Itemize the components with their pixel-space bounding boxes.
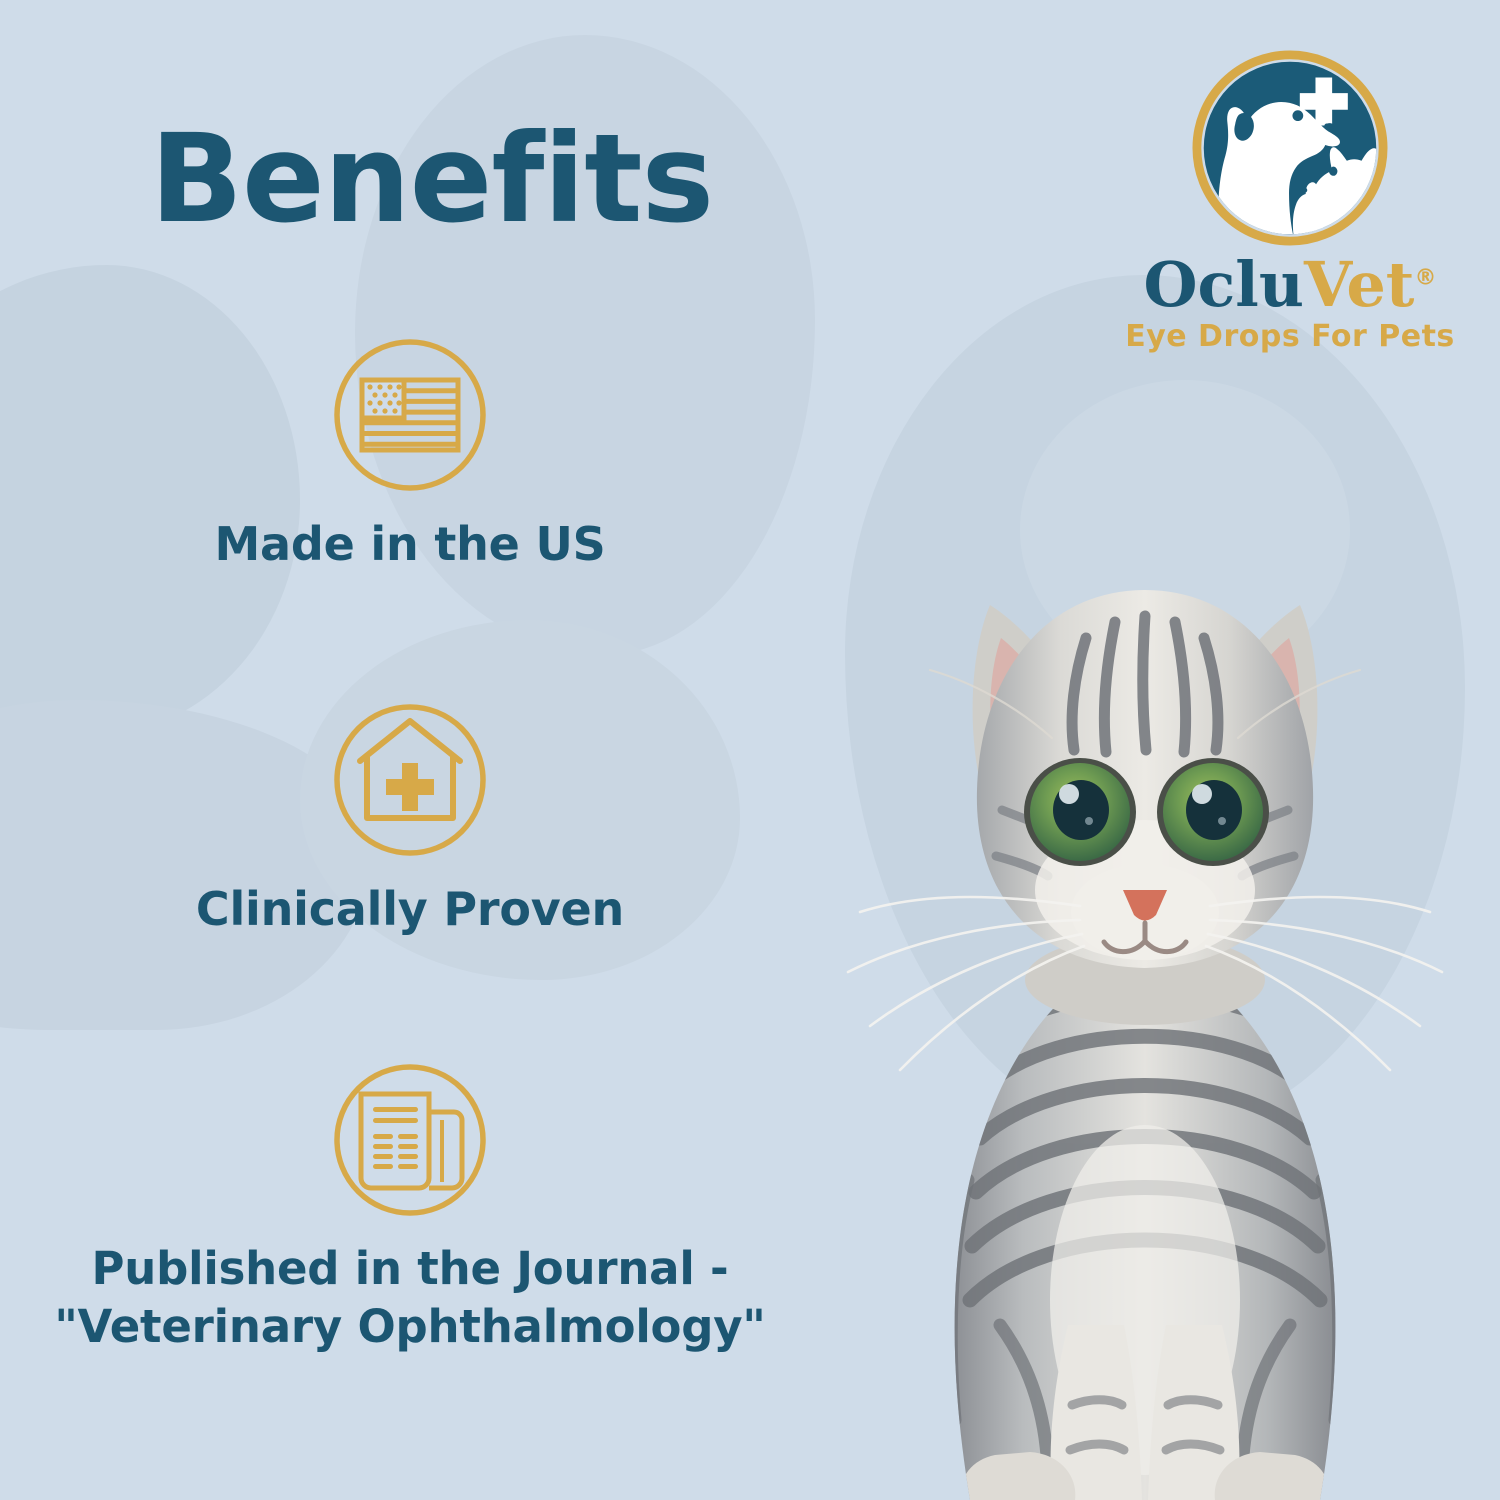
brand-tagline: Eye Drops For Pets (1110, 319, 1470, 354)
registered-trademark-icon: ® (1414, 265, 1436, 290)
clinic-house-cross-icon (320, 690, 500, 870)
dog-cat-bird-medical-cross-badge-icon (1192, 50, 1388, 246)
benefit-label-made-in-us: Made in the US (0, 515, 820, 574)
benefit-label-line-2: "Veterinary Ophthalmology" (0, 1298, 820, 1356)
silver-tabby-cat-photo (790, 420, 1500, 1500)
benefit-item-clinically-proven: Clinically Proven (0, 690, 820, 939)
brand-name-part-2: Vet (1304, 248, 1415, 321)
benefit-label-published-journal: Published in the Journal - "Veterinary O… (0, 1240, 820, 1355)
background-blob-right-top (1020, 380, 1350, 680)
cat-eye-left (1024, 758, 1136, 866)
page-title: Benefits (150, 108, 713, 250)
brand-name-part-1: Oclu (1144, 248, 1304, 321)
benefit-label-clinically-proven: Clinically Proven (0, 880, 820, 939)
benefit-label-line-1: Published in the Journal - (0, 1240, 820, 1298)
cat-eye-right (1157, 758, 1269, 866)
benefit-item-published-journal: Published in the Journal - "Veterinary O… (0, 1050, 820, 1355)
background-blob-right (845, 275, 1465, 1135)
newspaper-icon (320, 1050, 500, 1230)
benefit-item-made-in-us: Made in the US (0, 325, 820, 574)
us-flag-icon (320, 325, 500, 505)
infographic-canvas: Benefits OcluVet® (0, 0, 1500, 1500)
brand-logo: OcluVet® Eye Drops For Pets (1110, 50, 1470, 354)
brand-wordmark: OcluVet® (1110, 252, 1470, 317)
